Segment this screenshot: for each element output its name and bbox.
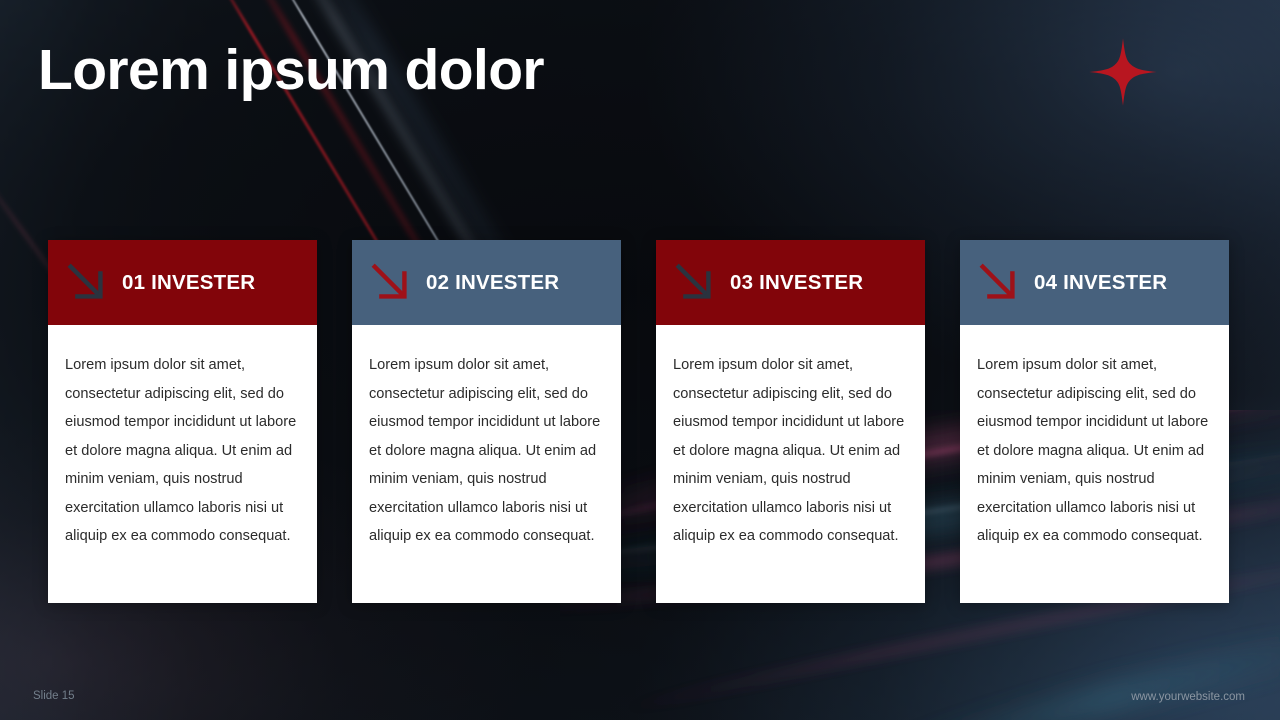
investor-card[interactable]: 01 INVESTER Lorem ipsum dolor sit amet, … <box>48 240 317 603</box>
website-label[interactable]: www.yourwebsite.com <box>1131 691 1245 703</box>
card-header: 03 INVESTER <box>656 240 925 325</box>
arrow-down-right-icon <box>976 260 1022 306</box>
card-body-text: Lorem ipsum dolor sit amet, consectetur … <box>48 325 317 603</box>
card-header: 04 INVESTER <box>960 240 1229 325</box>
presentation-slide: Lorem ipsum dolor 01 INVESTER Lorem ipsu… <box>0 0 1280 720</box>
card-header: 02 INVESTER <box>352 240 621 325</box>
four-point-star-icon <box>1088 34 1158 110</box>
page-title: Lorem ipsum dolor <box>38 42 544 99</box>
investor-card[interactable]: 02 INVESTER Lorem ipsum dolor sit amet, … <box>352 240 621 603</box>
investor-card[interactable]: 04 INVESTER Lorem ipsum dolor sit amet, … <box>960 240 1229 603</box>
slide-number-label: Slide 15 <box>33 690 75 702</box>
investor-card-list: 01 INVESTER Lorem ipsum dolor sit amet, … <box>48 240 1232 603</box>
card-title: 04 INVESTER <box>1034 271 1167 295</box>
card-title: 01 INVESTER <box>122 271 255 295</box>
card-header: 01 INVESTER <box>48 240 317 325</box>
card-body-text: Lorem ipsum dolor sit amet, consectetur … <box>960 325 1229 603</box>
arrow-down-right-icon <box>64 260 110 306</box>
investor-card[interactable]: 03 INVESTER Lorem ipsum dolor sit amet, … <box>656 240 925 603</box>
arrow-down-right-icon <box>368 260 414 306</box>
arrow-down-right-icon <box>672 260 718 306</box>
card-body-text: Lorem ipsum dolor sit amet, consectetur … <box>352 325 621 603</box>
card-body-text: Lorem ipsum dolor sit amet, consectetur … <box>656 325 925 603</box>
card-title: 03 INVESTER <box>730 271 863 295</box>
card-title: 02 INVESTER <box>426 271 559 295</box>
